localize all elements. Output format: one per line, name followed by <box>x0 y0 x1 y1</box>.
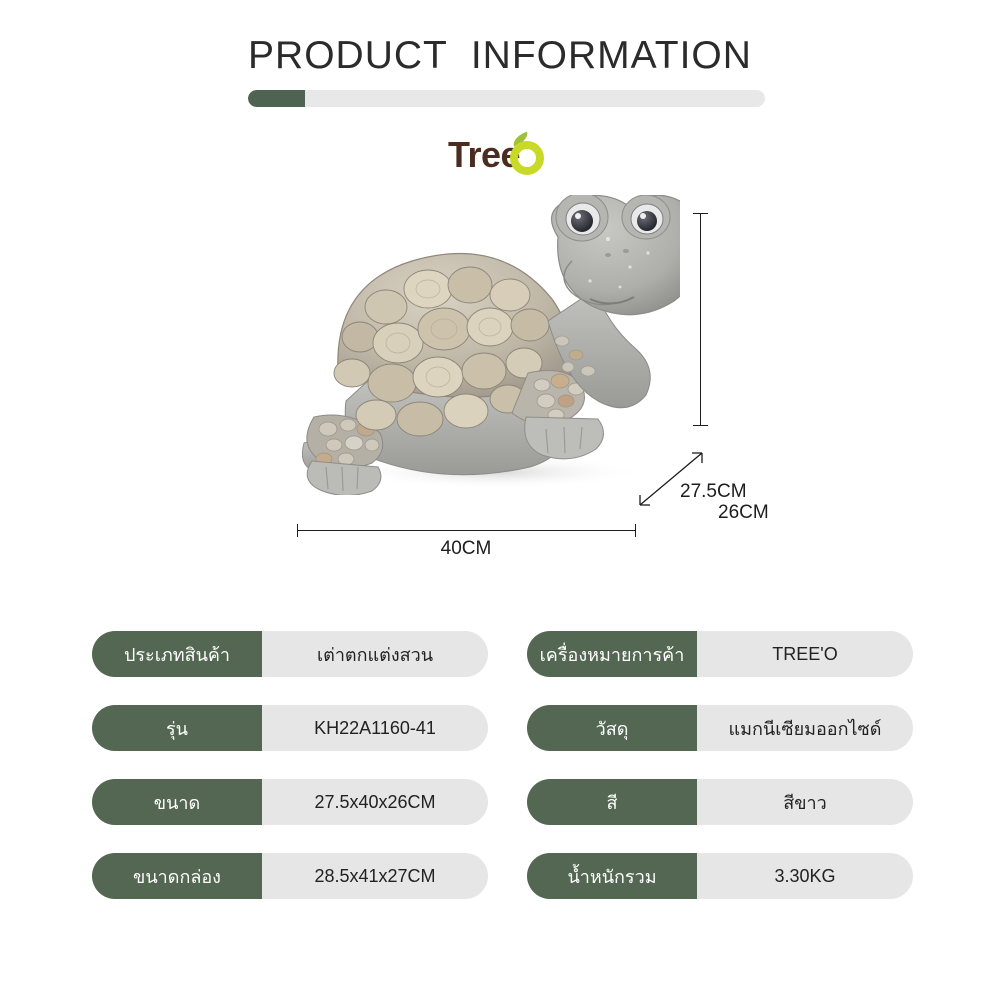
progress-bar <box>248 90 765 107</box>
dimension-line-depth <box>630 445 790 515</box>
spec-value: 3.30KG <box>697 853 913 899</box>
table-row: รุ่น KH22A1160-41 <box>92 705 488 751</box>
dimension-cap-height-top <box>693 213 708 214</box>
product-photo-turtle-figurine <box>290 195 680 495</box>
spec-table-right: เครื่องหมายการค้า TREE'O วัสดุ แมกนีเซีย… <box>527 631 913 927</box>
spec-key: เครื่องหมายการค้า <box>527 631 697 677</box>
spec-key: ประเภทสินค้า <box>92 631 262 677</box>
progress-bar-fill <box>248 90 305 107</box>
spec-value: TREE'O <box>697 631 913 677</box>
spec-value: 28.5x41x27CM <box>262 853 488 899</box>
spec-key: ขนาดกล่อง <box>92 853 262 899</box>
dimension-label-width: 40CM <box>0 538 932 560</box>
page-title: PRODUCT INFORMATION <box>0 34 1000 78</box>
spec-key: น้ำหนักรวม <box>527 853 697 899</box>
spec-value: เต่าตกแต่งสวน <box>262 631 488 677</box>
spec-value: สีขาว <box>697 779 913 825</box>
dimension-label-depth: 27.5CM <box>680 481 747 503</box>
product-image-stage: 26CM 40CM 27.5CM <box>0 190 1000 560</box>
table-row: สี สีขาว <box>527 779 913 825</box>
spec-table-left: ประเภทสินค้า เต่าตกแต่งสวน รุ่น KH22A116… <box>92 631 488 927</box>
table-row: น้ำหนักรวม 3.30KG <box>527 853 913 899</box>
table-row: ขนาดกล่อง 28.5x41x27CM <box>92 853 488 899</box>
spec-key: รุ่น <box>92 705 262 751</box>
table-row: วัสดุ แมกนีเซียมออกไซด์ <box>527 705 913 751</box>
dimension-line-height <box>700 213 701 425</box>
brand-logo: Tree <box>448 133 558 179</box>
spec-key: สี <box>527 779 697 825</box>
spec-key: ขนาด <box>92 779 262 825</box>
table-row: ประเภทสินค้า เต่าตกแต่งสวน <box>92 631 488 677</box>
dimension-cap-height-bottom <box>693 425 708 426</box>
dimension-line-width <box>297 530 635 531</box>
table-row: เครื่องหมายการค้า TREE'O <box>527 631 913 677</box>
spec-value: 27.5x40x26CM <box>262 779 488 825</box>
table-row: ขนาด 27.5x40x26CM <box>92 779 488 825</box>
spec-value: KH22A1160-41 <box>262 705 488 751</box>
spec-value: แมกนีเซียมออกไซด์ <box>697 705 913 751</box>
o-ring-icon <box>510 141 544 175</box>
spec-key: วัสดุ <box>527 705 697 751</box>
dimension-cap-width-left <box>297 524 298 537</box>
dimension-cap-width-right <box>635 524 636 537</box>
